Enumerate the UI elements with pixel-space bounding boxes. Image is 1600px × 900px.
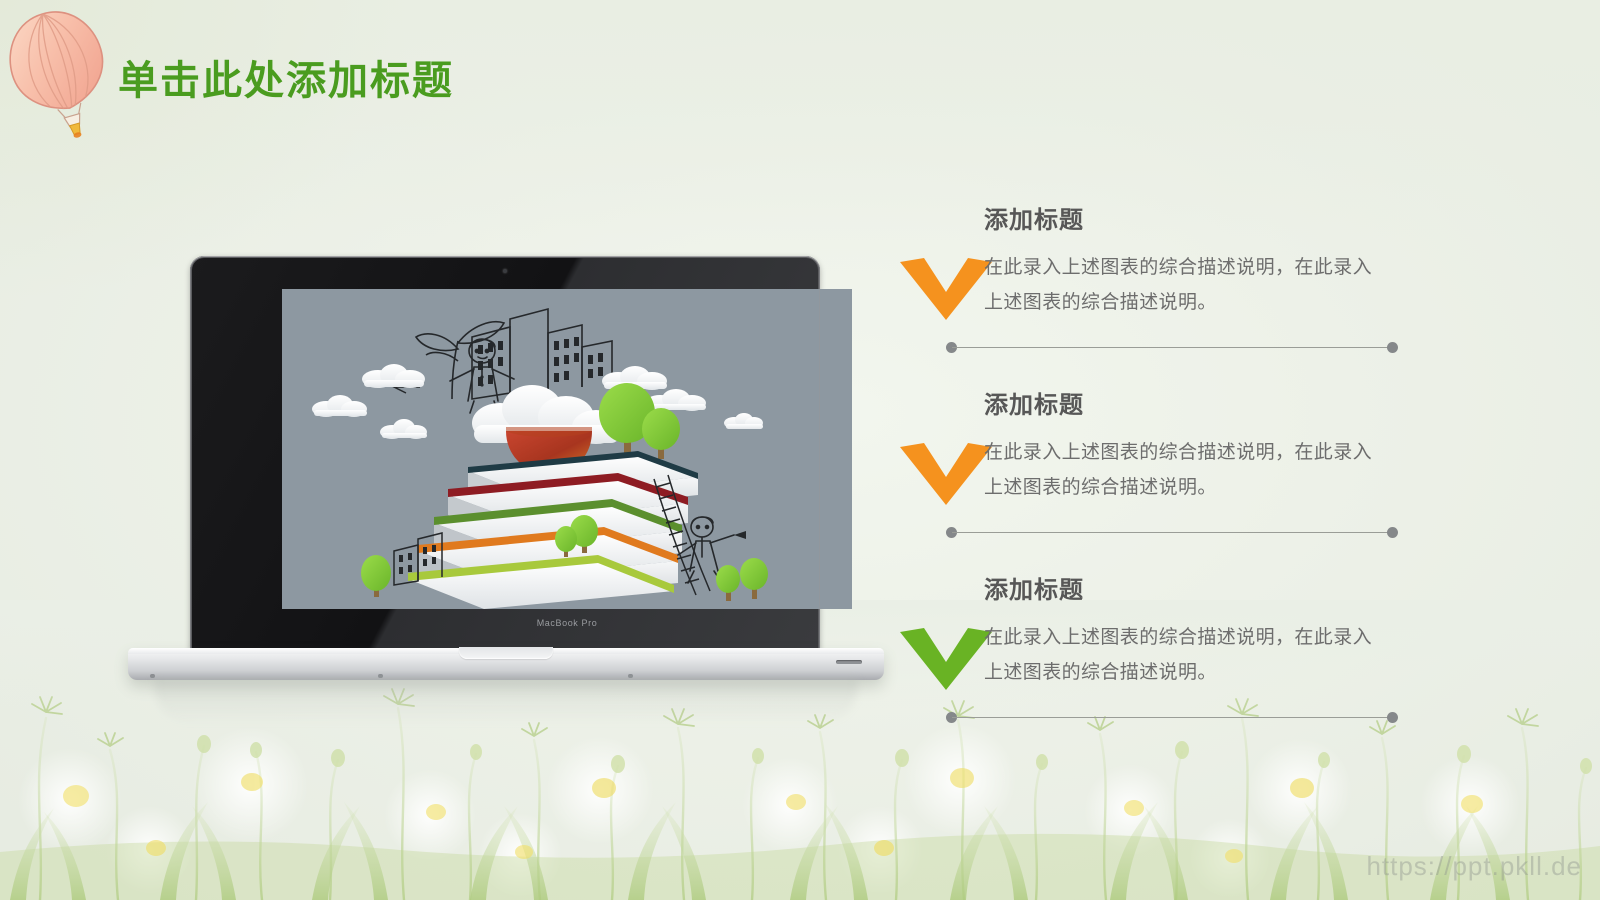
chevron-down-icon: [900, 628, 992, 690]
divider-dot-right: [1387, 712, 1398, 723]
divider-line: [952, 532, 1392, 533]
block-body-text: 在此录入上述图表的综合描述说明，在此录入上述图表的综合描述说明。: [984, 435, 1384, 505]
block-heading: 添加标题: [984, 200, 1084, 235]
paper-craft-book-stack-illustration: [282, 289, 852, 609]
chevron-down-icon: [900, 443, 992, 505]
block-heading: 添加标题: [984, 570, 1084, 605]
divider: [946, 712, 1398, 723]
laptop-latch: [459, 647, 553, 659]
laptop-disc-slot: [836, 660, 862, 664]
laptop-lid: MacBook Pro: [190, 256, 820, 652]
laptop-screen: [282, 289, 852, 609]
content-block-3[interactable]: 添加标题 在此录入上述图表的综合描述说明，在此录入上述图表的综合描述说明。: [900, 566, 1420, 751]
divider-dot-right: [1387, 527, 1398, 538]
content-blocks: 添加标题 在此录入上述图表的综合描述说明，在此录入上述图表的综合描述说明。 添加…: [900, 196, 1420, 751]
hot-air-balloon-icon: [4, 8, 122, 143]
divider: [946, 527, 1398, 538]
divider-line: [952, 347, 1392, 348]
watermark: https://ppt.pkll.de: [1366, 851, 1582, 882]
divider: [946, 342, 1398, 353]
laptop-mockup: MacBook Pro: [128, 256, 884, 686]
divider-dot-right: [1387, 342, 1398, 353]
page-title: 单击此处添加标题: [118, 48, 454, 106]
divider-line: [952, 717, 1392, 718]
laptop-reflection: [154, 678, 858, 724]
slide-canvas: 单击此处添加标题: [0, 0, 1600, 900]
block-heading: 添加标题: [984, 385, 1084, 420]
content-block-2[interactable]: 添加标题 在此录入上述图表的综合描述说明，在此录入上述图表的综合描述说明。: [900, 381, 1420, 566]
laptop-model-label: MacBook Pro: [190, 618, 944, 628]
content-block-1[interactable]: 添加标题 在此录入上述图表的综合描述说明，在此录入上述图表的综合描述说明。: [900, 196, 1420, 381]
webcam-icon: [503, 269, 507, 273]
chevron-down-icon: [900, 258, 992, 320]
block-body-text: 在此录入上述图表的综合描述说明，在此录入上述图表的综合描述说明。: [984, 250, 1384, 320]
block-body-text: 在此录入上述图表的综合描述说明，在此录入上述图表的综合描述说明。: [984, 620, 1384, 690]
